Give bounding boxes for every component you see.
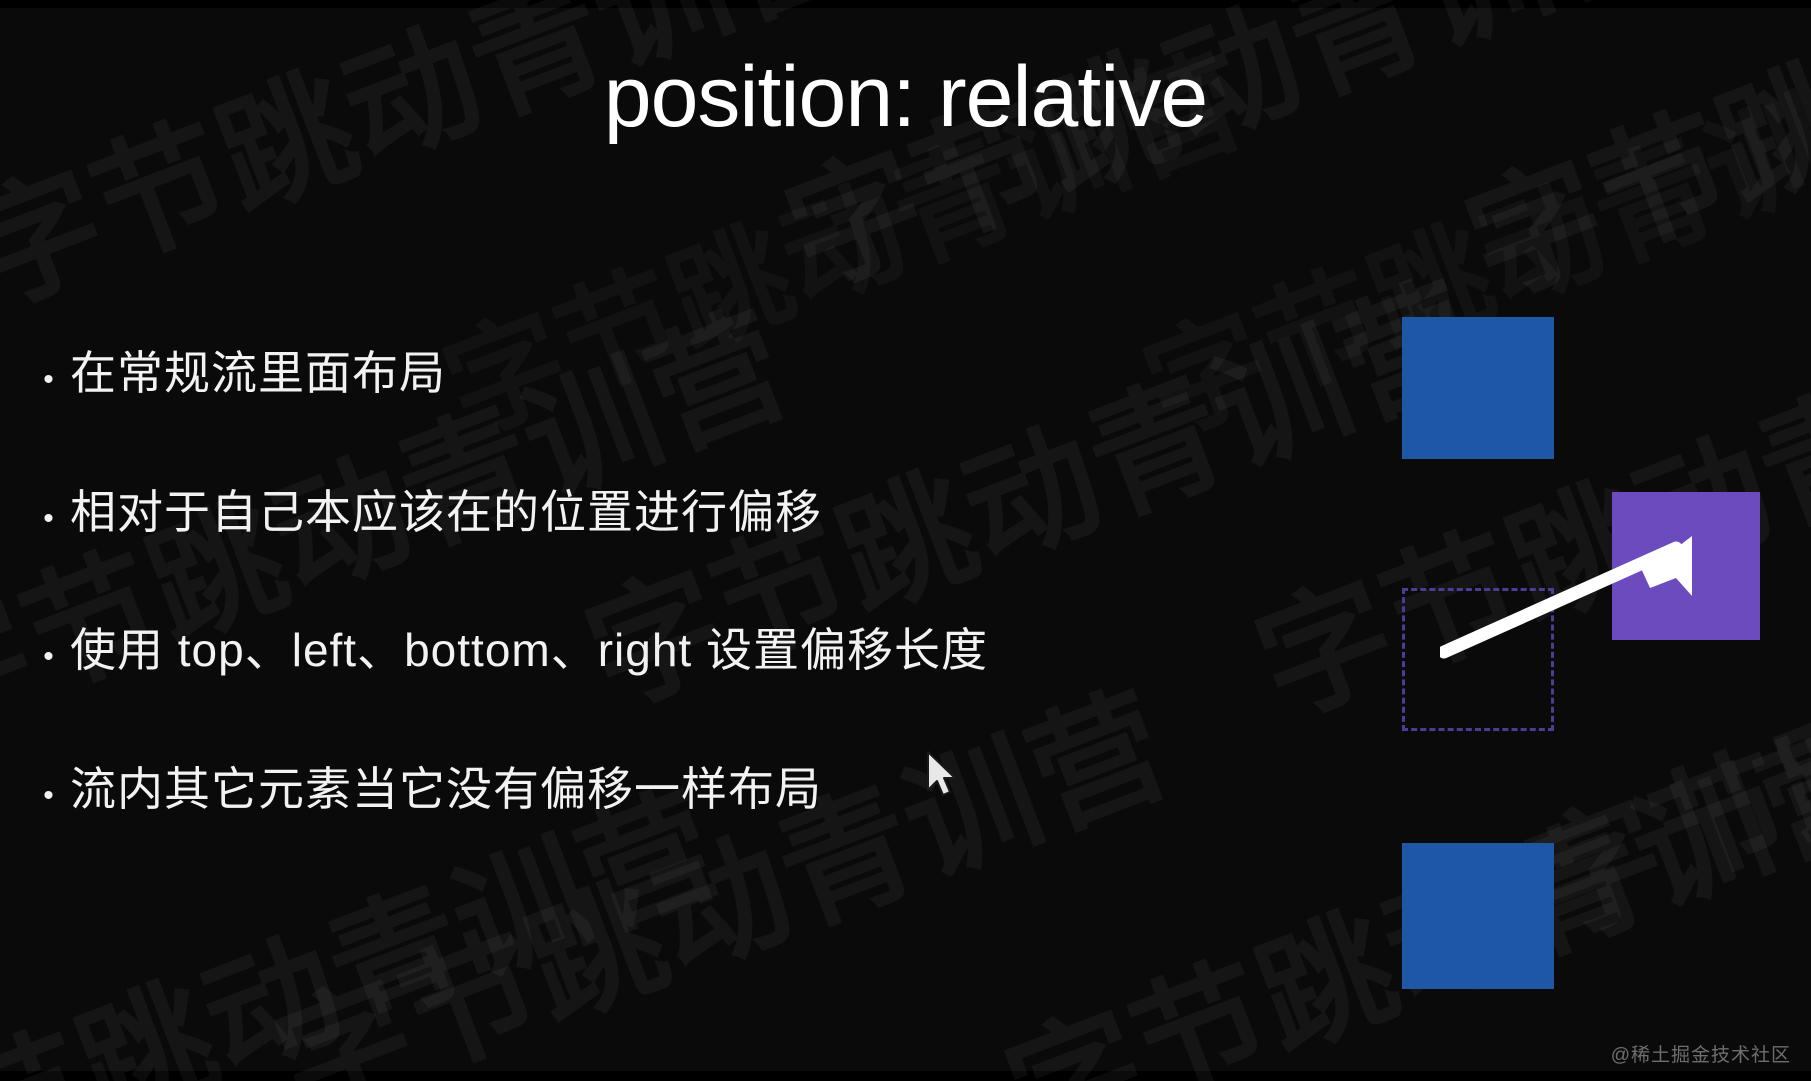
credit-watermark-label: @稀土掘金技术社区 <box>1611 1040 1791 1067</box>
bullet-dot-icon: • <box>28 642 70 672</box>
list-item-label: 相对于自己本应该在的位置进行偏移 <box>70 487 1228 538</box>
diagram-blue-box-top <box>1402 317 1554 459</box>
list-item-label: 使用 top、left、bottom、right 设置偏移长度 <box>70 625 1228 676</box>
list-item: • 在常规流里面布局 <box>28 348 1228 399</box>
bullet-dot-icon: • <box>28 781 70 811</box>
slide-content: position: relative • 在常规流里面布局 • 相对于自己本应该… <box>0 0 1811 1081</box>
diagram-purple-box-offset <box>1612 492 1760 640</box>
bullet-dot-icon: • <box>28 365 70 395</box>
bullet-list: • 在常规流里面布局 • 相对于自己本应该在的位置进行偏移 • 使用 top、l… <box>28 348 1228 902</box>
slide-canvas: 字节跳动青训营 字节跳动青训营 字节跳动青训营 字节跳动青训营 字节跳动青训营 … <box>0 0 1811 1081</box>
list-item: • 相对于自己本应该在的位置进行偏移 <box>28 487 1228 538</box>
list-item: • 使用 top、left、bottom、right 设置偏移长度 <box>28 625 1228 676</box>
diagram-ghost-box-outline <box>1402 588 1554 731</box>
list-item-label: 流内其它元素当它没有偏移一样布局 <box>70 764 1228 815</box>
list-item-label: 在常规流里面布局 <box>70 348 1228 399</box>
page-title: position: relative <box>0 52 1811 142</box>
diagram-blue-box-bottom <box>1402 843 1554 989</box>
bullet-dot-icon: • <box>28 504 70 534</box>
list-item: • 流内其它元素当它没有偏移一样布局 <box>28 764 1228 815</box>
